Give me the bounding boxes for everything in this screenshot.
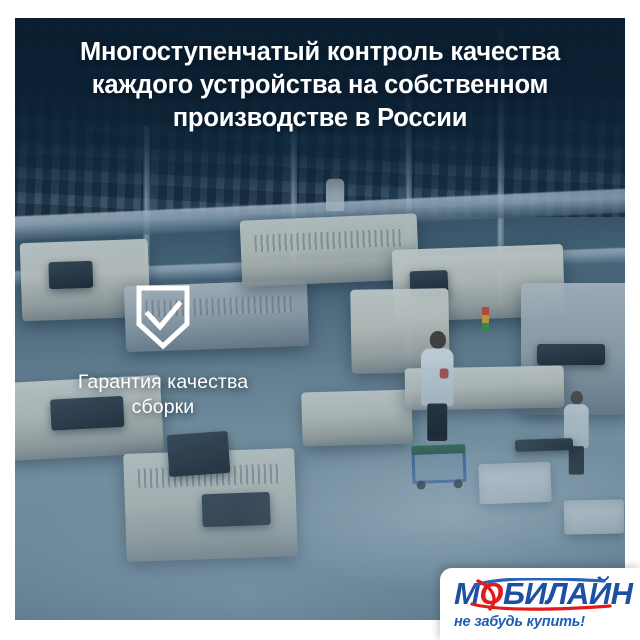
page-title: Многоступенчатый контроль качества каждо… bbox=[15, 36, 625, 135]
brand-logo-card[interactable]: МОБИЛАЙН не забудь купить! bbox=[440, 568, 640, 640]
page-title-line-2: каждого устройства на собственном bbox=[15, 69, 625, 102]
brand-tagline: не забудь купить! bbox=[454, 613, 632, 631]
shield-check-icon bbox=[135, 284, 191, 350]
page-title-line-1: Многоступенчатый контроль качества bbox=[15, 36, 625, 69]
brand-logo-inner: МОБИЛАЙН не забудь купить! bbox=[454, 576, 632, 631]
brand-wordmark: МОБИЛАЙН bbox=[454, 576, 632, 612]
brand-wordmark-part-2: О bbox=[479, 576, 503, 611]
quality-badge-caption: Гарантия качества сборки bbox=[38, 370, 288, 420]
page-title-line-3: производстве в России bbox=[15, 102, 625, 135]
quality-badge-caption-line-2: сборки bbox=[132, 396, 195, 418]
brand-wordmark-part-1: М bbox=[454, 576, 479, 611]
quality-badge-caption-line-1: Гарантия качества bbox=[78, 371, 248, 393]
brand-wordmark-part-3: БИЛАЙН bbox=[503, 576, 633, 611]
quality-badge: Гарантия качества сборки bbox=[38, 284, 288, 420]
poster-canvas: Многоступенчатый контроль качества каждо… bbox=[0, 0, 640, 640]
